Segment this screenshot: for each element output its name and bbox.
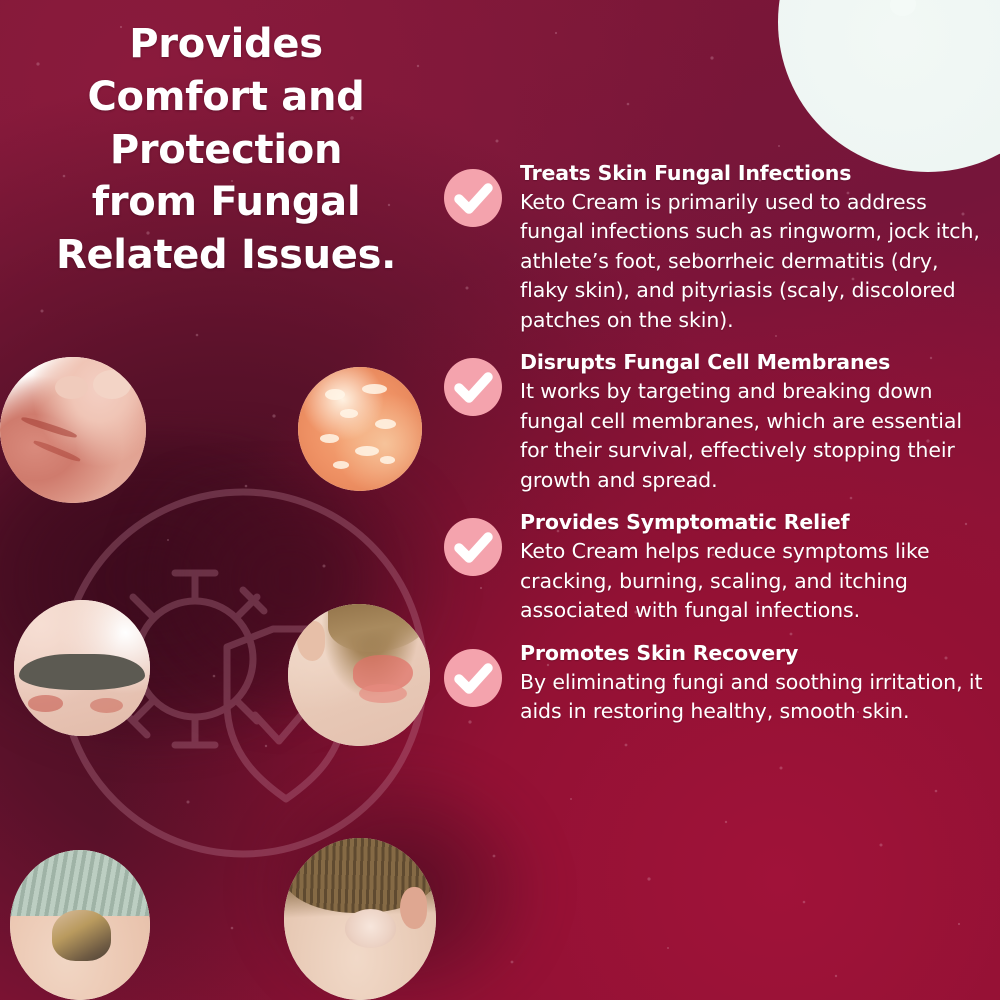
benefit-item-disrupts-fungal-cell-membranes: Disrupts Fungal Cell Membranes It works … <box>444 349 992 495</box>
photo-detail <box>19 654 144 689</box>
photo-detail <box>90 698 123 713</box>
headline-line-3: Protection <box>0 124 452 177</box>
photo-detail <box>297 621 325 661</box>
check-circle-icon <box>444 358 502 416</box>
photo-detail <box>345 909 397 948</box>
photo-detail <box>93 370 131 399</box>
jock-itch-groin-photo <box>14 600 150 736</box>
headline-line-2: Comfort and <box>0 71 452 124</box>
photo-detail <box>325 389 345 400</box>
photo-detail <box>320 434 339 443</box>
benefit-title: Disrupts Fungal Cell Membranes <box>520 349 992 377</box>
photo-fill <box>298 367 422 491</box>
infographic-poster: Provides Comfort and Protection from Fun… <box>0 0 1000 1000</box>
photo-detail <box>359 684 407 704</box>
photo-fill <box>0 357 146 503</box>
photo-detail <box>28 695 63 711</box>
photo-fill <box>14 600 150 736</box>
benefit-body: Disrupts Fungal Cell Membranes It works … <box>520 349 992 495</box>
photo-detail <box>33 438 81 462</box>
benefit-description: Keto Cream helps reduce symptoms like cr… <box>520 537 992 626</box>
benefit-item-treats-skin-fungal-infections: Treats Skin Fungal Infections Keto Cream… <box>444 160 992 335</box>
toenail-fungus-photo <box>10 850 150 1000</box>
neck-ringworm-rash-photo <box>288 604 430 746</box>
photo-detail <box>333 461 349 468</box>
photo-fill <box>288 604 430 746</box>
benefit-body: Provides Symptomatic Relief Keto Cream h… <box>520 509 992 625</box>
photo-fill <box>10 850 150 1000</box>
benefits-list: Treats Skin Fungal Infections Keto Cream… <box>444 160 992 727</box>
headline-line-1: Provides <box>0 18 452 71</box>
athletes-foot-toes-photo <box>0 357 146 503</box>
photo-detail <box>10 850 150 916</box>
benefit-body: Treats Skin Fungal Infections Keto Cream… <box>520 160 992 335</box>
benefit-body: Promotes Skin Recovery By eliminating fu… <box>520 640 992 727</box>
check-circle-icon <box>444 518 502 576</box>
headline-line-5: Related Issues. <box>0 229 452 282</box>
photo-detail <box>21 415 79 440</box>
photo-detail <box>52 910 111 961</box>
benefit-description: It works by targeting and breaking down … <box>520 377 992 495</box>
benefit-description: Keto Cream is primarily used to address … <box>520 188 992 336</box>
benefit-item-promotes-skin-recovery: Promotes Skin Recovery By eliminating fu… <box>444 640 992 727</box>
photo-detail <box>55 376 87 399</box>
photo-detail <box>362 384 387 394</box>
benefit-title: Promotes Skin Recovery <box>520 640 992 668</box>
check-circle-icon <box>444 649 502 707</box>
photo-detail <box>328 604 430 652</box>
benefit-description: By eliminating fungi and soothing irrita… <box>520 668 992 727</box>
page-title: Provides Comfort and Protection from Fun… <box>0 18 452 282</box>
photo-detail <box>380 456 395 463</box>
scaly-orange-skin-patch-photo <box>298 367 422 491</box>
headline-line-4: from Fungal <box>0 176 452 229</box>
benefit-title: Treats Skin Fungal Infections <box>520 160 992 188</box>
photo-detail <box>400 887 427 929</box>
photo-fill <box>284 838 436 1000</box>
photo-detail <box>375 419 396 429</box>
photo-detail <box>340 409 357 418</box>
scalp-seborrheic-dermatitis-photo <box>284 838 436 1000</box>
photo-detail <box>355 446 379 456</box>
benefit-item-provides-symptomatic-relief: Provides Symptomatic Relief Keto Cream h… <box>444 509 992 625</box>
check-circle-icon <box>444 169 502 227</box>
benefit-title: Provides Symptomatic Relief <box>520 509 992 537</box>
